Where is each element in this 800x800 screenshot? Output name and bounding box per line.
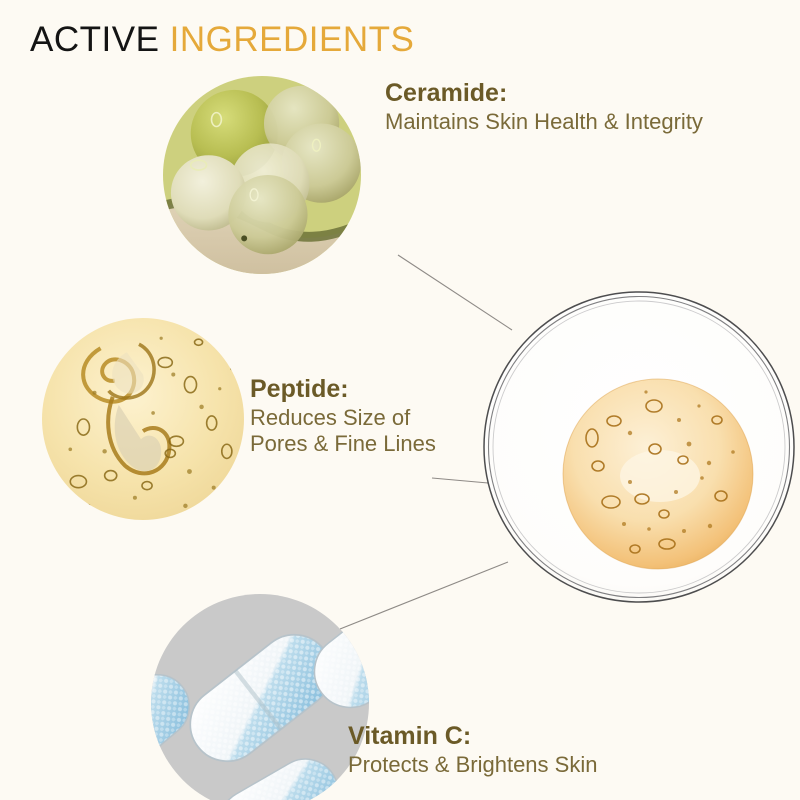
ingredient-desc-peptide-line2: Pores & Fine Lines: [250, 431, 436, 458]
ceramide-capsules-photo: [163, 76, 361, 274]
ingredient-name-vitaminc: Vitamin C:: [348, 722, 597, 752]
serum-dish-photo: [478, 286, 800, 608]
ingredient-desc-ceramide-line1: Maintains Skin Health & Integrity: [385, 109, 703, 136]
callout-ceramide: Ceramide: Maintains Skin Health & Integr…: [385, 79, 703, 135]
title-word-active: ACTIVE: [30, 20, 159, 59]
title-word-ingredients: INGREDIENTS: [170, 20, 415, 59]
ingredient-name-peptide: Peptide:: [250, 375, 436, 405]
ingredient-desc-peptide-line1: Reduces Size of: [250, 405, 436, 432]
callout-vitaminc: Vitamin C: Protects & Brightens Skin: [348, 722, 597, 778]
vitaminc-capsules-photo: [151, 594, 369, 800]
ingredient-name-ceramide: Ceramide:: [385, 79, 703, 109]
peptide-serum-photo: [42, 318, 244, 520]
page-title: ACTIVE INGREDIENTS: [30, 22, 414, 57]
callout-peptide: Peptide: Reduces Size of Pores & Fine Li…: [250, 375, 436, 458]
infographic-canvas: ACTIVE INGREDIENTS: [0, 0, 800, 800]
ingredient-desc-vitaminc-line1: Protects & Brightens Skin: [348, 752, 597, 779]
